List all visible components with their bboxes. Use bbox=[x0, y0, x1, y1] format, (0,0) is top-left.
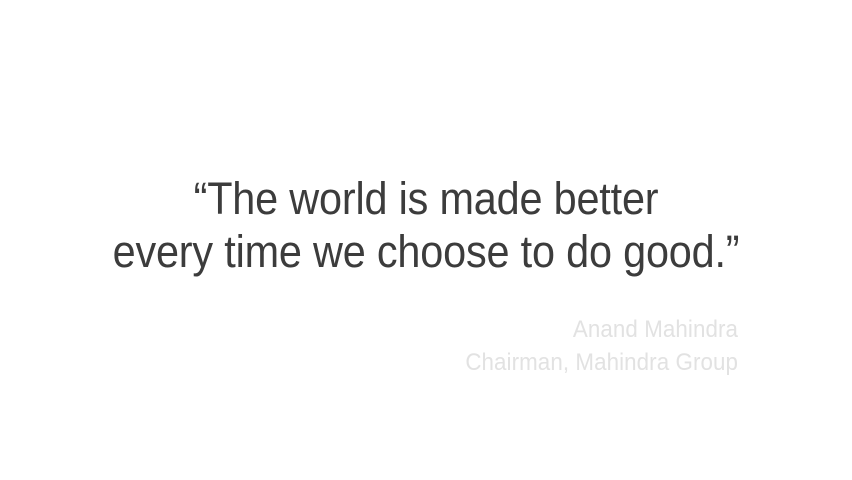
quote-line-1: “The world is made better bbox=[34, 172, 818, 225]
quote-block: “The world is made better every time we … bbox=[0, 172, 852, 278]
quote-line-2: every time we choose to do good.” bbox=[34, 225, 818, 278]
attribution-name: Anand Mahindra bbox=[52, 313, 738, 346]
attribution-block: Anand Mahindra Chairman, Mahindra Group bbox=[0, 313, 852, 379]
quote-slide: “The world is made better every time we … bbox=[0, 0, 852, 480]
attribution-title: Chairman, Mahindra Group bbox=[52, 346, 738, 379]
